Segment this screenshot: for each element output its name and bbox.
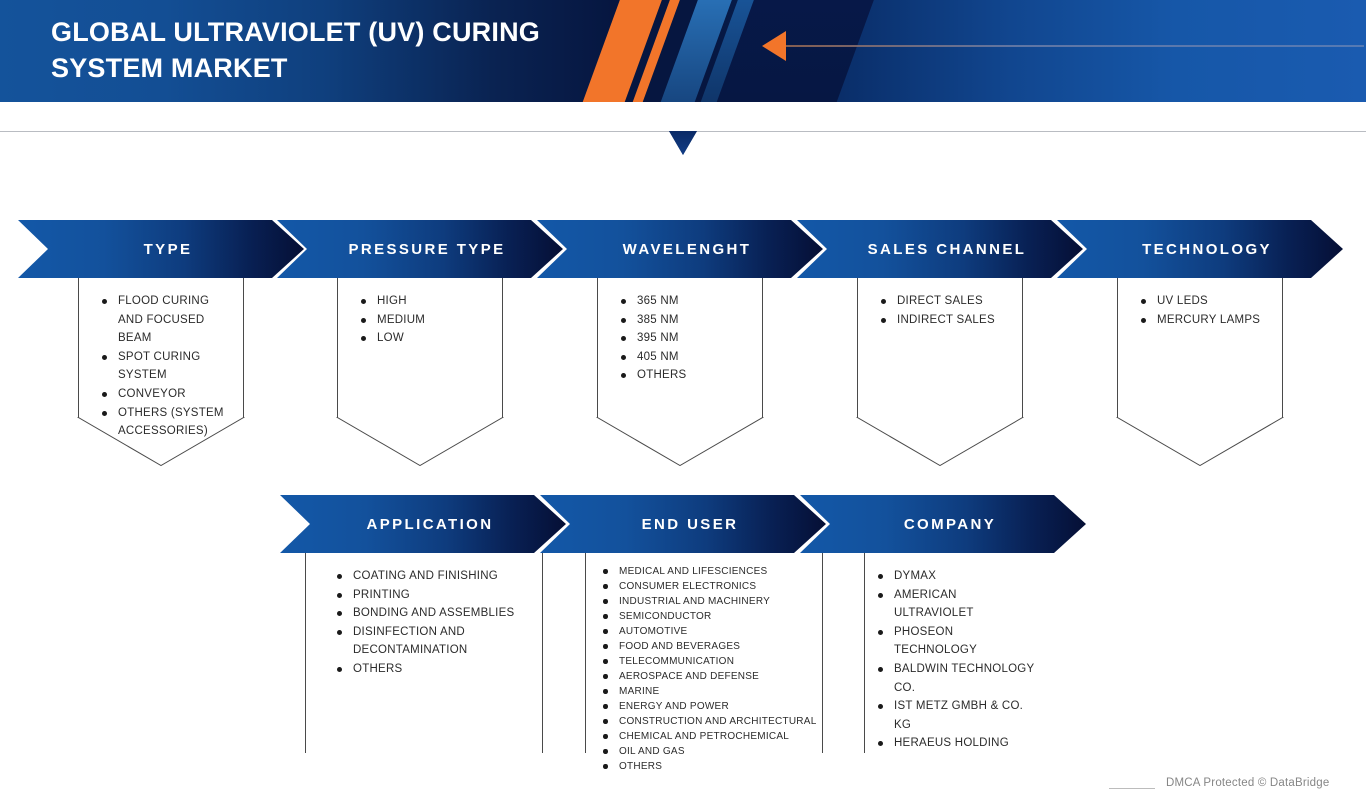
category-title: TECHNOLOGY	[1128, 241, 1272, 258]
list-item: ENERGY AND POWER	[601, 699, 819, 714]
list-item: DISINFECTION and DECONTAMINATION	[335, 623, 535, 660]
list-item: TELECOMMUNICATION	[601, 654, 819, 669]
category-sales-channel: SALES CHANNEL DIRECT SALES INDIRECT SALE…	[797, 220, 1083, 418]
category-title: END USER	[628, 516, 739, 533]
list-item: PRINTING	[335, 586, 535, 605]
category-header-end-user[interactable]: END USER	[540, 495, 826, 553]
category-title: WAVELENGHT	[609, 241, 752, 258]
list-item: AUTOMOTIVE	[601, 624, 819, 639]
list-item: AEROSPACE AND DEFENSE	[601, 669, 819, 684]
item-list: FLOOD CURING and FOCUSED BEAM SPOT CURIN…	[78, 278, 244, 441]
category-body-wavelenght: 365 NM 385 NM 395 NM 405 NM OTHERS	[597, 278, 763, 418]
list-item: OTHERS	[619, 366, 755, 385]
item-list: HIGH MEDIUM LOW	[337, 278, 503, 348]
list-item: IST METZ GMBH & CO. KG	[876, 697, 1038, 734]
list-item: SPOT CURING SYSTEM	[100, 348, 236, 385]
list-item: BONDING and ASSEMBLIES	[335, 604, 535, 623]
body-v-bottom	[596, 417, 764, 466]
category-title: APPLICATION	[353, 516, 494, 533]
category-body-sales-channel: DIRECT SALES INDIRECT SALES	[857, 278, 1023, 418]
category-header-wavelenght[interactable]: WAVELENGHT	[537, 220, 823, 278]
category-wavelenght: WAVELENGHT 365 NM 385 NM 395 NM 405 NM O…	[537, 220, 823, 418]
list-item: SEMICONDUCTOR	[601, 609, 819, 624]
list-item: HERAEUS HOLDING	[876, 734, 1038, 753]
body-v-bottom	[336, 417, 504, 466]
list-item: HIGH	[359, 292, 495, 311]
category-application: APPLICATION COATING and FINISHING PRINTI…	[280, 495, 566, 753]
category-pressure-type: PRESSURE TYPE HIGH MEDIUM LOW	[277, 220, 563, 418]
category-body-application: COATING and FINISHING PRINTING BONDING a…	[305, 553, 543, 753]
list-item: MERCURY LAMPS	[1139, 311, 1275, 330]
item-list: MEDICAL AND LIFESCIENCES CONSUMER ELECTR…	[585, 553, 823, 774]
list-item: CONVEYOR	[100, 385, 236, 404]
list-item: 395 NM	[619, 329, 755, 348]
list-item: MEDIUM	[359, 311, 495, 330]
down-caret-icon	[669, 131, 697, 155]
list-item: CHEMICAL AND PETROCHEMICAL	[601, 729, 819, 744]
category-body-pressure-type: HIGH MEDIUM LOW	[337, 278, 503, 418]
list-item: DYMAX	[876, 567, 1038, 586]
body-v-bottom	[856, 417, 1024, 466]
category-body-end-user: MEDICAL AND LIFESCIENCES CONSUMER ELECTR…	[585, 553, 823, 753]
item-list: UV LEDS MERCURY LAMPS	[1117, 278, 1283, 329]
category-type: TYPE FLOOD CURING and FOCUSED BEAM SPOT …	[18, 220, 304, 418]
list-item: INDUSTRIAL AND MACHINERY	[601, 594, 819, 609]
item-list: DYMAX AMERICAN ULTRAVIOLET PHOSEON TECHN…	[864, 553, 1046, 753]
category-header-application[interactable]: APPLICATION	[280, 495, 566, 553]
list-item: OTHERS	[601, 759, 819, 774]
list-item: OTHERS	[335, 660, 535, 679]
list-item: LOW	[359, 329, 495, 348]
list-item: MARINE	[601, 684, 819, 699]
item-list: 365 NM 385 NM 395 NM 405 NM OTHERS	[597, 278, 763, 385]
category-title: COMPANY	[890, 516, 996, 533]
list-item: OTHERS (SYSTEM ACCESSORIES)	[100, 404, 236, 441]
left-triangle-icon	[762, 31, 786, 61]
list-item: FOOD AND BEVERAGES	[601, 639, 819, 654]
list-item: PHOSEON TECHNOLOGY	[876, 623, 1038, 660]
category-header-sales-channel[interactable]: SALES CHANNEL	[797, 220, 1083, 278]
category-title: PRESSURE TYPE	[334, 241, 505, 258]
item-list: DIRECT SALES INDIRECT SALES	[857, 278, 1023, 329]
infographic-page: GLOBAL ULTRAVIOLET (UV) CURING SYSTEM MA…	[0, 0, 1366, 808]
category-body-company: DYMAX AMERICAN ULTRAVIOLET PHOSEON TECHN…	[864, 553, 1046, 753]
category-title: SALES CHANNEL	[854, 241, 1027, 258]
list-item: OIL AND GAS	[601, 744, 819, 759]
category-header-pressure-type[interactable]: PRESSURE TYPE	[277, 220, 563, 278]
list-item: DIRECT SALES	[879, 292, 1015, 311]
list-item: AMERICAN ULTRAVIOLET	[876, 586, 1038, 623]
item-list: COATING and FINISHING PRINTING BONDING a…	[305, 553, 543, 679]
list-item: 365 NM	[619, 292, 755, 311]
footer-copyright: DMCA Protected © DataBridge	[1166, 777, 1329, 789]
category-header-technology[interactable]: TECHNOLOGY	[1057, 220, 1343, 278]
header-rule	[786, 45, 1364, 47]
category-technology: TECHNOLOGY UV LEDS MERCURY LAMPS	[1057, 220, 1343, 418]
list-item: UV LEDS	[1139, 292, 1275, 311]
category-end-user: END USER MEDICAL AND LIFESCIENCES CONSUM…	[540, 495, 826, 753]
category-title: TYPE	[130, 241, 193, 258]
list-item: MEDICAL AND LIFESCIENCES	[601, 564, 819, 579]
category-header-company[interactable]: COMPANY	[800, 495, 1086, 553]
list-item: CONSUMER ELECTRONICS	[601, 579, 819, 594]
list-item: CONSTRUCTION AND ARCHITECTURAL	[601, 714, 819, 729]
footer-rule	[1109, 788, 1155, 789]
list-item: 385 NM	[619, 311, 755, 330]
list-item: BALDWIN TECHNOLOGY CO.	[876, 660, 1038, 697]
list-item: FLOOD CURING and FOCUSED BEAM	[100, 292, 236, 348]
body-v-bottom	[1116, 417, 1284, 466]
list-item: COATING and FINISHING	[335, 567, 535, 586]
list-item: 405 NM	[619, 348, 755, 367]
category-company: COMPANY DYMAX AMERICAN ULTRAVIOLET PHOSE…	[800, 495, 1086, 753]
category-body-type: FLOOD CURING and FOCUSED BEAM SPOT CURIN…	[78, 278, 244, 418]
category-header-type[interactable]: TYPE	[18, 220, 304, 278]
page-title: GLOBAL ULTRAVIOLET (UV) CURING SYSTEM MA…	[51, 15, 651, 86]
category-body-technology: UV LEDS MERCURY LAMPS	[1117, 278, 1283, 418]
header-banner: GLOBAL ULTRAVIOLET (UV) CURING SYSTEM MA…	[0, 0, 1366, 102]
list-item: INDIRECT SALES	[879, 311, 1015, 330]
